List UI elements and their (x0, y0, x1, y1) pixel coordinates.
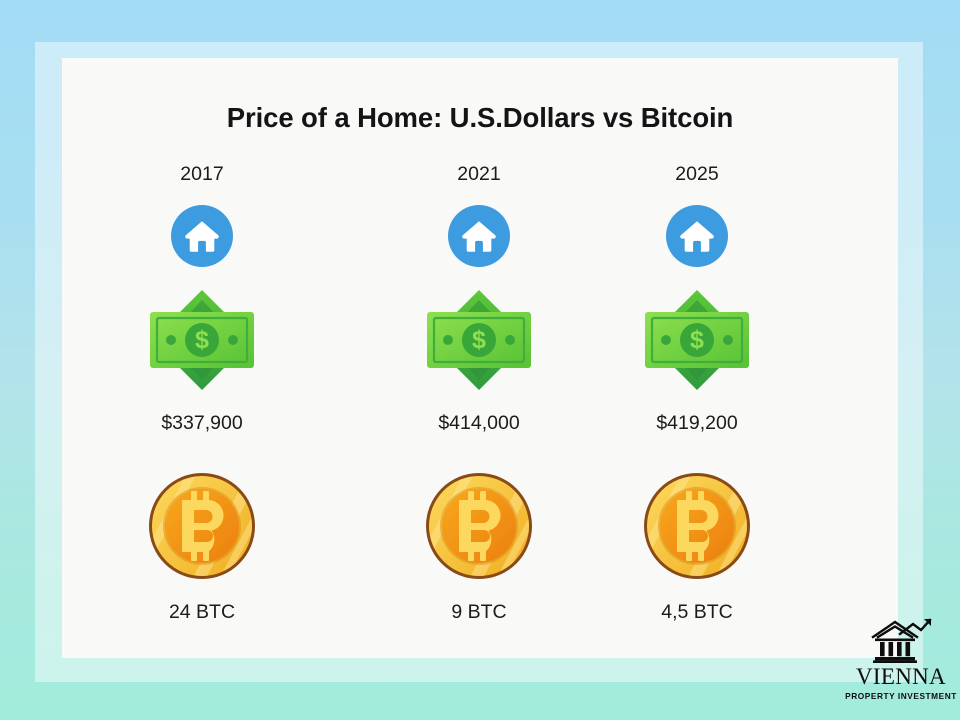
house-icon (461, 219, 497, 253)
logo-name: VIENNA (845, 665, 957, 689)
house-icon (679, 219, 715, 253)
bitcoin-coin-icon (423, 470, 535, 582)
vienna-logo[interactable]: VIENNA PROPERTY INVESTMENT (845, 617, 957, 709)
house-icon-wrap (577, 205, 817, 267)
btc-price-label: 9 BTC (359, 601, 599, 624)
house-icon-wrap (359, 205, 599, 267)
svg-text:$: $ (690, 326, 704, 354)
bitcoin-coin-icon-wrap (577, 470, 817, 582)
usd-price-label: $419,200 (577, 412, 817, 435)
year-label: 2025 (577, 163, 817, 186)
bank-building-growth-arrow-icon (869, 617, 933, 665)
bitcoin-coin-icon (641, 470, 753, 582)
house-icon-circle (666, 205, 728, 267)
dollar-bill-icon: $ (417, 286, 541, 394)
year-label: 2021 (359, 163, 599, 186)
dollar-bill-icon-wrap: $ (82, 286, 322, 394)
comparison-columns: 2017 (62, 58, 898, 658)
house-icon (184, 219, 220, 253)
svg-text:$: $ (472, 326, 486, 354)
dollar-bill-icon-wrap: $ (577, 286, 817, 394)
dollar-bill-icon-wrap: $ (359, 286, 599, 394)
house-icon-wrap (82, 205, 322, 267)
comparison-column: 2025 (577, 58, 817, 658)
logo-mark (869, 617, 933, 665)
content-card: Price of a Home: U.S.Dollars vs Bitcoin … (62, 58, 898, 658)
house-icon-circle (171, 205, 233, 267)
btc-price-label: 24 BTC (82, 601, 322, 624)
comparison-column: 2017 (82, 58, 322, 658)
house-icon-circle (448, 205, 510, 267)
bitcoin-coin-icon-wrap (359, 470, 599, 582)
dollar-bill-icon: $ (635, 286, 759, 394)
bitcoin-coin-icon (146, 470, 258, 582)
usd-price-label: $414,000 (359, 412, 599, 435)
usd-price-label: $337,900 (82, 412, 322, 435)
svg-text:$: $ (195, 326, 209, 354)
dollar-bill-icon: $ (140, 286, 264, 394)
bitcoin-coin-icon-wrap (82, 470, 322, 582)
logo-tagline: PROPERTY INVESTMENT (845, 691, 957, 701)
year-label: 2017 (82, 163, 322, 186)
comparison-column: 2021 (359, 58, 599, 658)
infographic-canvas: Price of a Home: U.S.Dollars vs Bitcoin … (0, 0, 960, 720)
btc-price-label: 4,5 BTC (577, 601, 817, 624)
